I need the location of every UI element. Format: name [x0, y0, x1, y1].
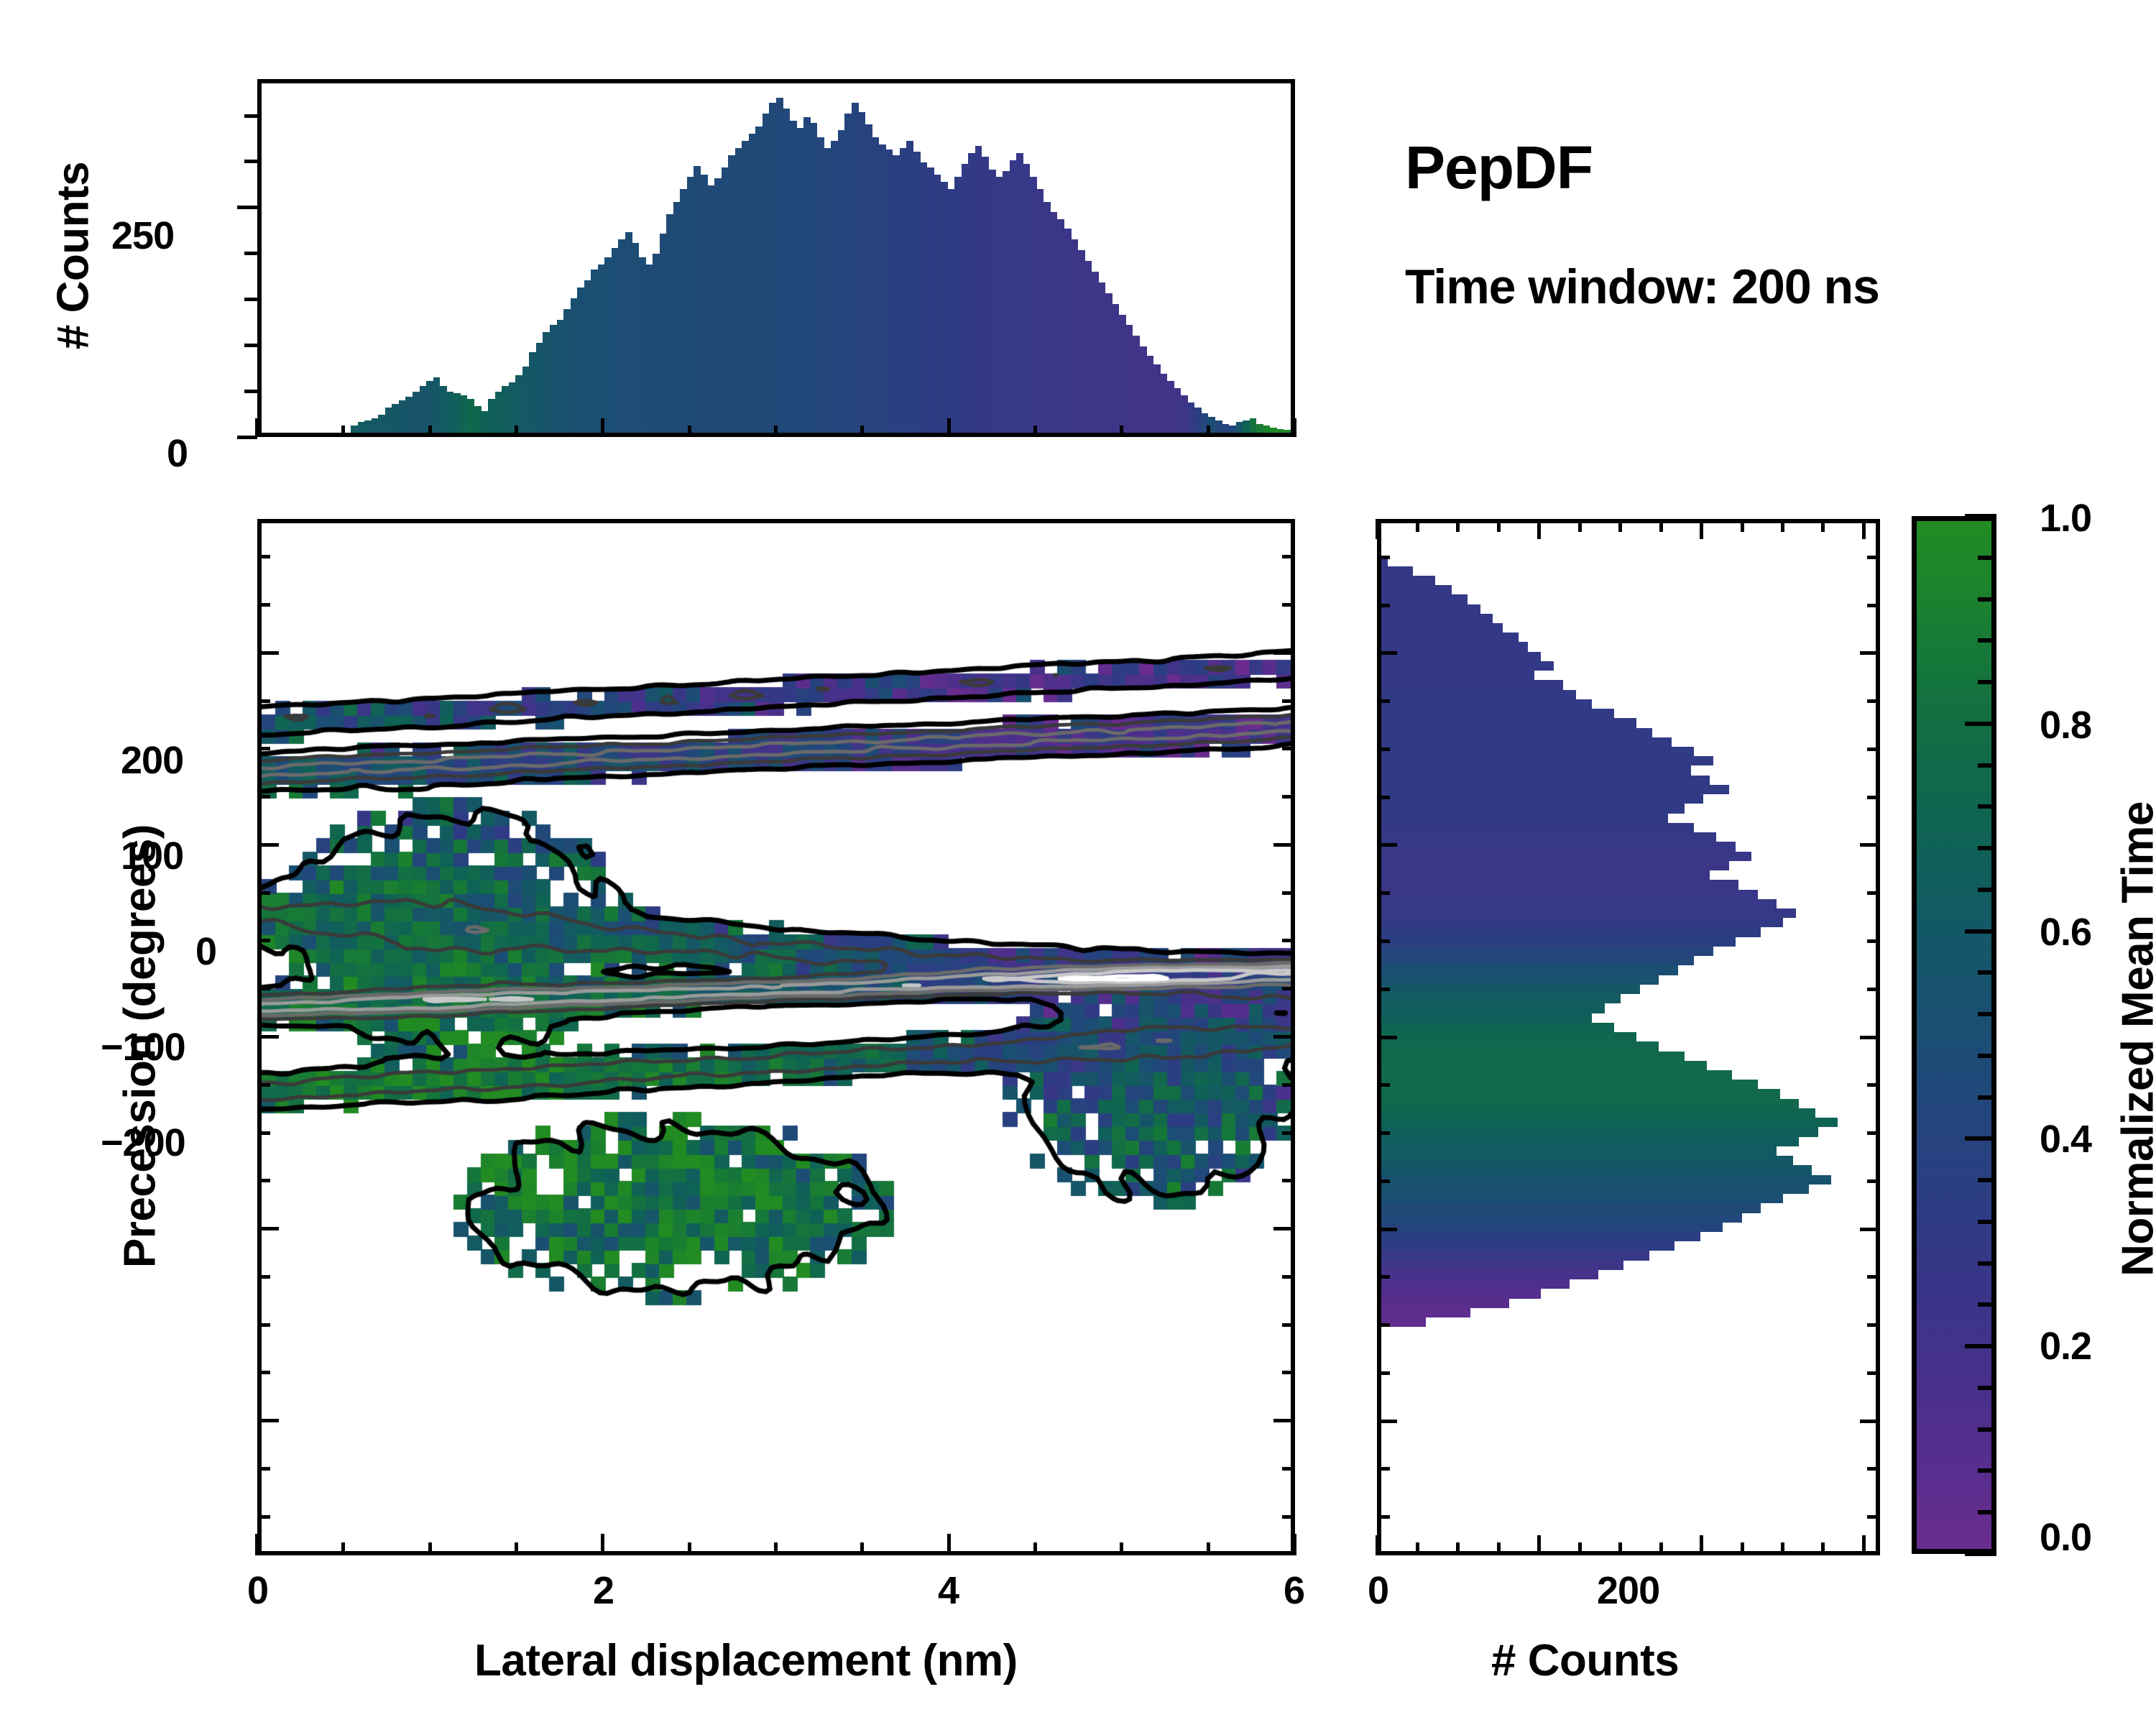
right-hist-ytick — [1377, 556, 1390, 559]
top-hist-bar — [1072, 239, 1079, 433]
right-hist-bar — [1381, 1108, 1815, 1118]
right-hist-ytick — [1867, 988, 1880, 991]
top-hist-bar — [714, 178, 722, 433]
top-hist-bar — [797, 128, 804, 433]
right-hist-xtick — [1376, 519, 1379, 539]
top-hist-bar — [755, 126, 763, 433]
right-hist-bar — [1381, 975, 1659, 985]
top-hist-bar — [1140, 346, 1147, 433]
right-hist-bar — [1381, 1251, 1649, 1260]
top-marginal-histogram-panel — [257, 79, 1295, 437]
top-hist-bar — [1016, 153, 1023, 433]
right-hist-bar — [1381, 642, 1528, 651]
top-hist-bar — [474, 406, 482, 433]
right-hist-bar — [1381, 1223, 1723, 1232]
top-hist-bar — [577, 287, 584, 433]
top-hist-bar — [1229, 425, 1236, 433]
main-xtick-4: 4 — [938, 1568, 959, 1613]
right-hist-ytick — [1867, 1323, 1880, 1327]
top-hist-bar — [1222, 424, 1230, 433]
top-hist-bar — [618, 239, 625, 433]
right-hist-xtick — [1781, 519, 1784, 532]
top-hist-bars — [262, 83, 1291, 433]
right-hist-ytick — [1377, 939, 1390, 943]
top-hist-bar — [673, 202, 681, 433]
right-hist-ytick — [1867, 891, 1880, 895]
top-hist-bar — [632, 243, 640, 433]
main-ytick — [1282, 1275, 1295, 1279]
top-hist-ytick — [244, 298, 257, 301]
right-hist-bar — [1381, 671, 1534, 680]
top-hist-bar — [838, 130, 845, 433]
top-hist-bar — [1215, 420, 1222, 433]
main-xtick — [1207, 1542, 1210, 1555]
colorbar-tick — [1978, 597, 1996, 602]
top-hist-bar — [803, 117, 811, 433]
top-hist-bar — [482, 411, 489, 433]
right-hist-xtick — [1416, 1542, 1419, 1555]
right-hist-ytick — [1867, 1179, 1880, 1183]
right-hist-xtick — [1781, 1542, 1784, 1555]
main-ytick — [257, 939, 270, 942]
right-hist-bar — [1381, 1261, 1623, 1270]
main-xtick-0: 0 — [247, 1568, 268, 1613]
main-ytick — [257, 651, 279, 655]
right-hist-bar — [1381, 890, 1758, 899]
joint-histogram-panel — [257, 519, 1295, 1555]
top-hist-bar — [687, 177, 694, 433]
main-ytick — [257, 747, 270, 750]
right-hist-xtick — [1497, 519, 1501, 532]
top-hist-bar — [1119, 315, 1126, 433]
colorbar-tick — [1978, 1468, 1996, 1473]
top-hist-bar — [433, 377, 441, 433]
colorbar-tick — [1978, 1054, 1996, 1058]
right-marginal-histogram-panel — [1377, 519, 1880, 1555]
top-hist-ytick — [244, 160, 257, 163]
main-ytick — [1273, 1227, 1295, 1230]
top-hist-bar — [1161, 374, 1168, 433]
main-ytick — [257, 795, 270, 799]
top-hist-bar — [790, 121, 797, 433]
right-hist-xtick — [1659, 519, 1663, 532]
right-hist-bar — [1381, 1203, 1761, 1213]
top-hist-xtick — [601, 418, 604, 437]
right-hist-ytick — [1377, 747, 1390, 751]
main-ytick — [257, 987, 270, 990]
right-hist-bar — [1381, 1099, 1799, 1108]
top-hist-bar — [1236, 422, 1243, 433]
top-hist-bar — [399, 400, 406, 433]
right-hist-ytick — [1377, 1228, 1397, 1231]
colorbar-tick — [1965, 1552, 1996, 1556]
colorbar-tick — [1978, 1220, 1996, 1224]
top-hist-ytick — [244, 252, 257, 255]
right-hist-bar — [1381, 690, 1576, 699]
right-hist-xtick — [1862, 1535, 1866, 1555]
colorbar-tick — [1978, 638, 1996, 643]
top-hist-bar — [1188, 402, 1195, 433]
main-ytick — [1282, 747, 1295, 750]
colorbar-tick — [1965, 514, 1996, 518]
main-ytick — [1273, 1035, 1295, 1039]
right-hist-bar — [1381, 585, 1452, 594]
right-hist-xtick — [1578, 519, 1582, 532]
right-hist-xtick — [1537, 1535, 1541, 1555]
right-hist-bar — [1381, 1279, 1570, 1289]
top-hist-xtick — [1207, 425, 1210, 437]
right-hist-bar — [1381, 1070, 1732, 1080]
right-hist-bar — [1381, 652, 1541, 661]
main-ytick — [1282, 939, 1295, 942]
right-hist-ytick — [1377, 1131, 1390, 1135]
right-hist-bar — [1381, 804, 1685, 813]
right-hist-xtick-0: 0 — [1368, 1568, 1388, 1613]
main-xtick — [255, 1534, 259, 1555]
right-hist-bar — [1381, 814, 1668, 823]
right-hist-bar — [1381, 908, 1796, 918]
right-hist-xtick — [1376, 1535, 1379, 1555]
main-ytick — [257, 1131, 270, 1135]
main-ytick — [1282, 1467, 1295, 1471]
right-hist-bar — [1381, 785, 1729, 794]
top-hist-bar — [962, 164, 969, 433]
right-hist-bar — [1381, 576, 1435, 585]
right-hist-bar — [1381, 1299, 1509, 1308]
right-hist-ytick — [1860, 1036, 1880, 1039]
right-hist-ytick — [1867, 939, 1880, 943]
right-hist-bar — [1381, 1308, 1470, 1317]
colorbar-tick-0-8: 0.8 — [2040, 703, 2091, 747]
right-hist-xtick — [1821, 519, 1825, 532]
main-ytick — [1282, 1083, 1295, 1087]
main-ytick — [1282, 987, 1295, 990]
right-hist-bar — [1381, 947, 1713, 956]
colorbar-tick-0-6: 0.6 — [2040, 910, 2091, 954]
top-hist-bar — [413, 392, 420, 433]
right-hist-ytick — [1377, 1515, 1390, 1519]
top-hist-ytick — [244, 344, 257, 347]
right-hist-xtick — [1741, 1542, 1744, 1555]
right-hist-bar — [1381, 728, 1652, 737]
right-hist-bar — [1381, 1146, 1777, 1156]
top-hist-bar — [557, 320, 564, 433]
right-hist-bar — [1381, 1165, 1812, 1174]
top-hist-bar — [571, 298, 578, 433]
top-hist-bar — [351, 425, 358, 433]
right-hist-ytick — [1377, 988, 1390, 991]
right-hist-bar — [1381, 870, 1710, 880]
top-hist-bar — [811, 123, 818, 433]
top-hist-bar — [906, 141, 913, 433]
right-hist-bar — [1381, 956, 1694, 965]
main-xtick-2: 2 — [593, 1568, 614, 1613]
right-hist-ytick — [1377, 843, 1397, 847]
top-hist-bar — [921, 162, 928, 433]
top-hist-xtick — [515, 425, 518, 437]
main-xtick — [1120, 1542, 1123, 1555]
top-hist-bar — [913, 152, 921, 433]
figure-root: 0 250 # Counts PepDF Time window: 200 ns… — [0, 0, 2156, 1725]
top-hist-bar — [625, 232, 632, 433]
colorbar-tick — [1978, 556, 1996, 560]
top-hist-bar — [392, 404, 399, 433]
right-hist-bar — [1381, 832, 1716, 842]
right-hist-ytick — [1867, 747, 1880, 751]
main-xtick — [601, 1534, 604, 1555]
main-ytick — [1282, 603, 1295, 607]
main-xtick — [947, 1534, 951, 1555]
top-hist-bar — [968, 153, 975, 433]
top-hist-bar — [893, 155, 900, 433]
top-hist-bar — [824, 148, 831, 433]
top-hist-xtick — [341, 425, 345, 437]
colorbar-tick-1-0: 1.0 — [2040, 496, 2091, 540]
right-hist-xtick — [1456, 1542, 1460, 1555]
top-hist-bar — [522, 367, 530, 433]
main-ytick — [1282, 891, 1295, 895]
right-hist-bar — [1381, 699, 1592, 709]
right-hist-bar — [1381, 1013, 1592, 1023]
main-xlabel: Lateral displacement (nm) — [474, 1635, 1018, 1686]
top-hist-bar — [982, 157, 989, 433]
right-hist-xtick — [1618, 519, 1622, 532]
main-ytick — [257, 699, 270, 703]
top-hist-bar — [639, 257, 646, 433]
top-hist-ytick — [237, 206, 257, 209]
top-hist-bar — [385, 408, 392, 433]
right-hist-bar — [1381, 1270, 1598, 1279]
top-hist-bar — [364, 420, 372, 433]
top-hist-bar — [1250, 418, 1257, 433]
top-hist-ylabel: # Counts — [48, 141, 99, 371]
top-hist-bar — [1256, 424, 1263, 433]
top-hist-xtick — [774, 425, 778, 437]
top-hist-bar — [1277, 429, 1284, 433]
main-xtick — [860, 1542, 864, 1555]
top-hist-bar — [872, 137, 880, 433]
right-hist-ytick — [1377, 1371, 1390, 1375]
right-hist-bar — [1381, 614, 1493, 623]
right-hist-bar — [1381, 756, 1713, 765]
colorbar-tick — [1978, 1386, 1996, 1390]
top-hist-bar — [447, 392, 454, 433]
top-hist-bar — [598, 264, 605, 433]
main-ytick — [1282, 1179, 1295, 1182]
top-hist-bar — [831, 141, 838, 433]
right-hist-bar — [1381, 1241, 1674, 1251]
right-hist-bar — [1381, 1194, 1783, 1203]
right-hist-bar — [1381, 747, 1694, 756]
main-ytick — [1282, 1131, 1295, 1135]
main-ytick — [257, 1371, 270, 1374]
colorbar-tick — [1965, 1136, 1996, 1141]
right-hist-ytick — [1377, 891, 1390, 895]
main-ytick — [257, 891, 270, 895]
top-hist-bar — [708, 185, 715, 433]
top-hist-xtick — [1033, 425, 1037, 437]
top-hist-bar — [1003, 171, 1010, 433]
right-hist-xtick — [1618, 1542, 1622, 1555]
top-hist-bar — [1051, 212, 1058, 433]
top-hist-bar — [1010, 160, 1017, 433]
right-hist-bar — [1381, 1118, 1838, 1127]
top-hist-xtick — [1120, 425, 1123, 437]
top-hist-bar — [1263, 425, 1271, 433]
right-hist-bar — [1381, 1175, 1831, 1184]
right-hist-bar — [1381, 632, 1519, 642]
top-hist-bar — [1057, 219, 1064, 433]
right-hist-ytick — [1867, 604, 1880, 607]
main-xtick — [428, 1542, 432, 1555]
top-hist-bar — [591, 270, 598, 433]
top-hist-bar — [948, 189, 955, 433]
top-hist-bar — [653, 254, 660, 433]
top-hist-bar — [405, 397, 413, 433]
top-hist-bar — [1284, 430, 1291, 433]
top-hist-bar — [865, 124, 872, 433]
top-hist-xtick — [947, 418, 951, 437]
top-hist-bar — [529, 352, 536, 433]
right-hist-bar — [1381, 1127, 1818, 1136]
colorbar-tick — [1978, 1095, 1996, 1100]
right-hist-ytick — [1867, 1371, 1880, 1375]
main-xtick — [515, 1542, 518, 1555]
right-hist-plot-area — [1381, 523, 1876, 1551]
right-hist-bar — [1381, 594, 1468, 604]
main-ytick — [1282, 699, 1295, 703]
right-hist-bar — [1381, 661, 1554, 671]
colorbar — [1912, 516, 1996, 1554]
top-hist-bar — [646, 264, 653, 433]
top-hist-bar — [1044, 202, 1051, 433]
main-ytick — [1273, 1419, 1295, 1422]
colorbar-tick — [1978, 1261, 1996, 1266]
top-hist-bar — [1085, 261, 1092, 433]
colorbar-tick — [1965, 722, 1996, 726]
top-hist-bar — [1064, 229, 1072, 433]
top-hist-bar — [680, 189, 687, 433]
right-hist-bar — [1381, 1137, 1799, 1146]
right-hist-bar — [1381, 823, 1694, 832]
right-hist-ytick — [1377, 1275, 1390, 1279]
right-hist-bar — [1381, 1003, 1605, 1013]
right-hist-ytick — [1860, 651, 1880, 655]
right-hist-ytick — [1860, 1420, 1880, 1423]
top-hist-bar — [1126, 325, 1133, 433]
right-hist-bar — [1381, 1023, 1614, 1032]
top-hist-bar — [859, 112, 866, 433]
right-hist-bar — [1381, 623, 1503, 632]
colorbar-tick — [1965, 1344, 1996, 1348]
top-hist-bar — [886, 149, 893, 433]
colorbar-tick — [1978, 763, 1996, 768]
top-hist-bar — [453, 393, 461, 433]
top-hist-bar — [735, 148, 742, 433]
right-hist-bar — [1381, 1213, 1742, 1223]
top-hist-bar — [372, 418, 379, 433]
right-hist-xtick — [1456, 519, 1460, 532]
top-hist-bar — [440, 386, 447, 433]
main-ytick — [257, 1227, 279, 1230]
right-hist-xtick — [1821, 1542, 1825, 1555]
top-hist-bar — [1147, 356, 1154, 433]
top-hist-bar — [1181, 395, 1188, 433]
top-hist-bar — [927, 167, 934, 433]
top-hist-bar — [722, 167, 729, 433]
right-hist-ytick — [1377, 699, 1390, 703]
colorbar-tick — [1978, 1178, 1996, 1182]
right-hist-bar — [1381, 1052, 1685, 1061]
right-hist-bar — [1381, 985, 1640, 994]
right-hist-bar — [1381, 1032, 1636, 1041]
right-hist-ytick — [1867, 1131, 1880, 1135]
top-hist-bar — [563, 309, 571, 433]
top-hist-bar — [358, 422, 365, 433]
main-ytick — [257, 555, 270, 558]
top-hist-bar — [543, 332, 550, 433]
top-hist-bar — [1099, 282, 1106, 433]
colorbar-tick — [1978, 888, 1996, 892]
top-hist-bar — [666, 214, 673, 433]
right-hist-ytick — [1377, 1323, 1390, 1327]
top-hist-bar — [1078, 250, 1085, 433]
top-hist-bar — [900, 148, 907, 433]
top-hist-bar — [1105, 293, 1112, 433]
right-hist-bar — [1381, 1089, 1780, 1098]
right-hist-bar — [1381, 1232, 1700, 1241]
top-hist-bar — [844, 114, 852, 433]
right-hist-bar — [1381, 1289, 1541, 1298]
main-ytick — [257, 603, 270, 607]
main-ytick — [257, 843, 279, 847]
top-hist-bar — [1167, 381, 1174, 433]
right-hist-bars — [1381, 523, 1876, 1551]
main-xtick-6: 6 — [1284, 1568, 1304, 1613]
main-ytick — [257, 1323, 270, 1327]
top-hist-bar — [749, 134, 756, 433]
main-ytick — [257, 1467, 270, 1471]
colorbar-label: Normalized Mean Time — [2113, 781, 2156, 1298]
top-hist-bar — [1023, 164, 1031, 433]
main-xtick — [688, 1542, 691, 1555]
top-hist-bar — [701, 175, 708, 433]
right-hist-ytick — [1377, 1420, 1397, 1423]
top-hist-bar — [461, 395, 468, 433]
top-hist-ytick — [237, 436, 257, 439]
top-hist-ytick-250: 250 — [111, 213, 174, 258]
top-hist-bar — [1174, 388, 1181, 433]
top-hist-bar — [584, 280, 591, 433]
top-hist-bar — [495, 392, 502, 433]
top-hist-bar — [378, 415, 385, 433]
right-hist-bar — [1381, 680, 1563, 689]
right-hist-ytick — [1377, 1467, 1390, 1471]
colorbar-tick-0-2: 0.2 — [2040, 1324, 2091, 1368]
right-hist-bar — [1381, 566, 1413, 576]
top-hist-bar — [742, 141, 749, 433]
colorbar-tick — [1978, 1012, 1996, 1016]
top-hist-xtick — [428, 425, 432, 437]
right-hist-bar — [1381, 937, 1736, 947]
joint-density-heatmap — [262, 523, 1291, 1551]
top-hist-xtick — [255, 418, 259, 437]
top-hist-bar — [728, 155, 735, 433]
right-hist-bar — [1381, 1041, 1659, 1051]
colorbar-tick — [1978, 1510, 1996, 1514]
figure-annotation-title: PepDF — [1405, 133, 1593, 203]
right-hist-bar — [1381, 709, 1614, 718]
